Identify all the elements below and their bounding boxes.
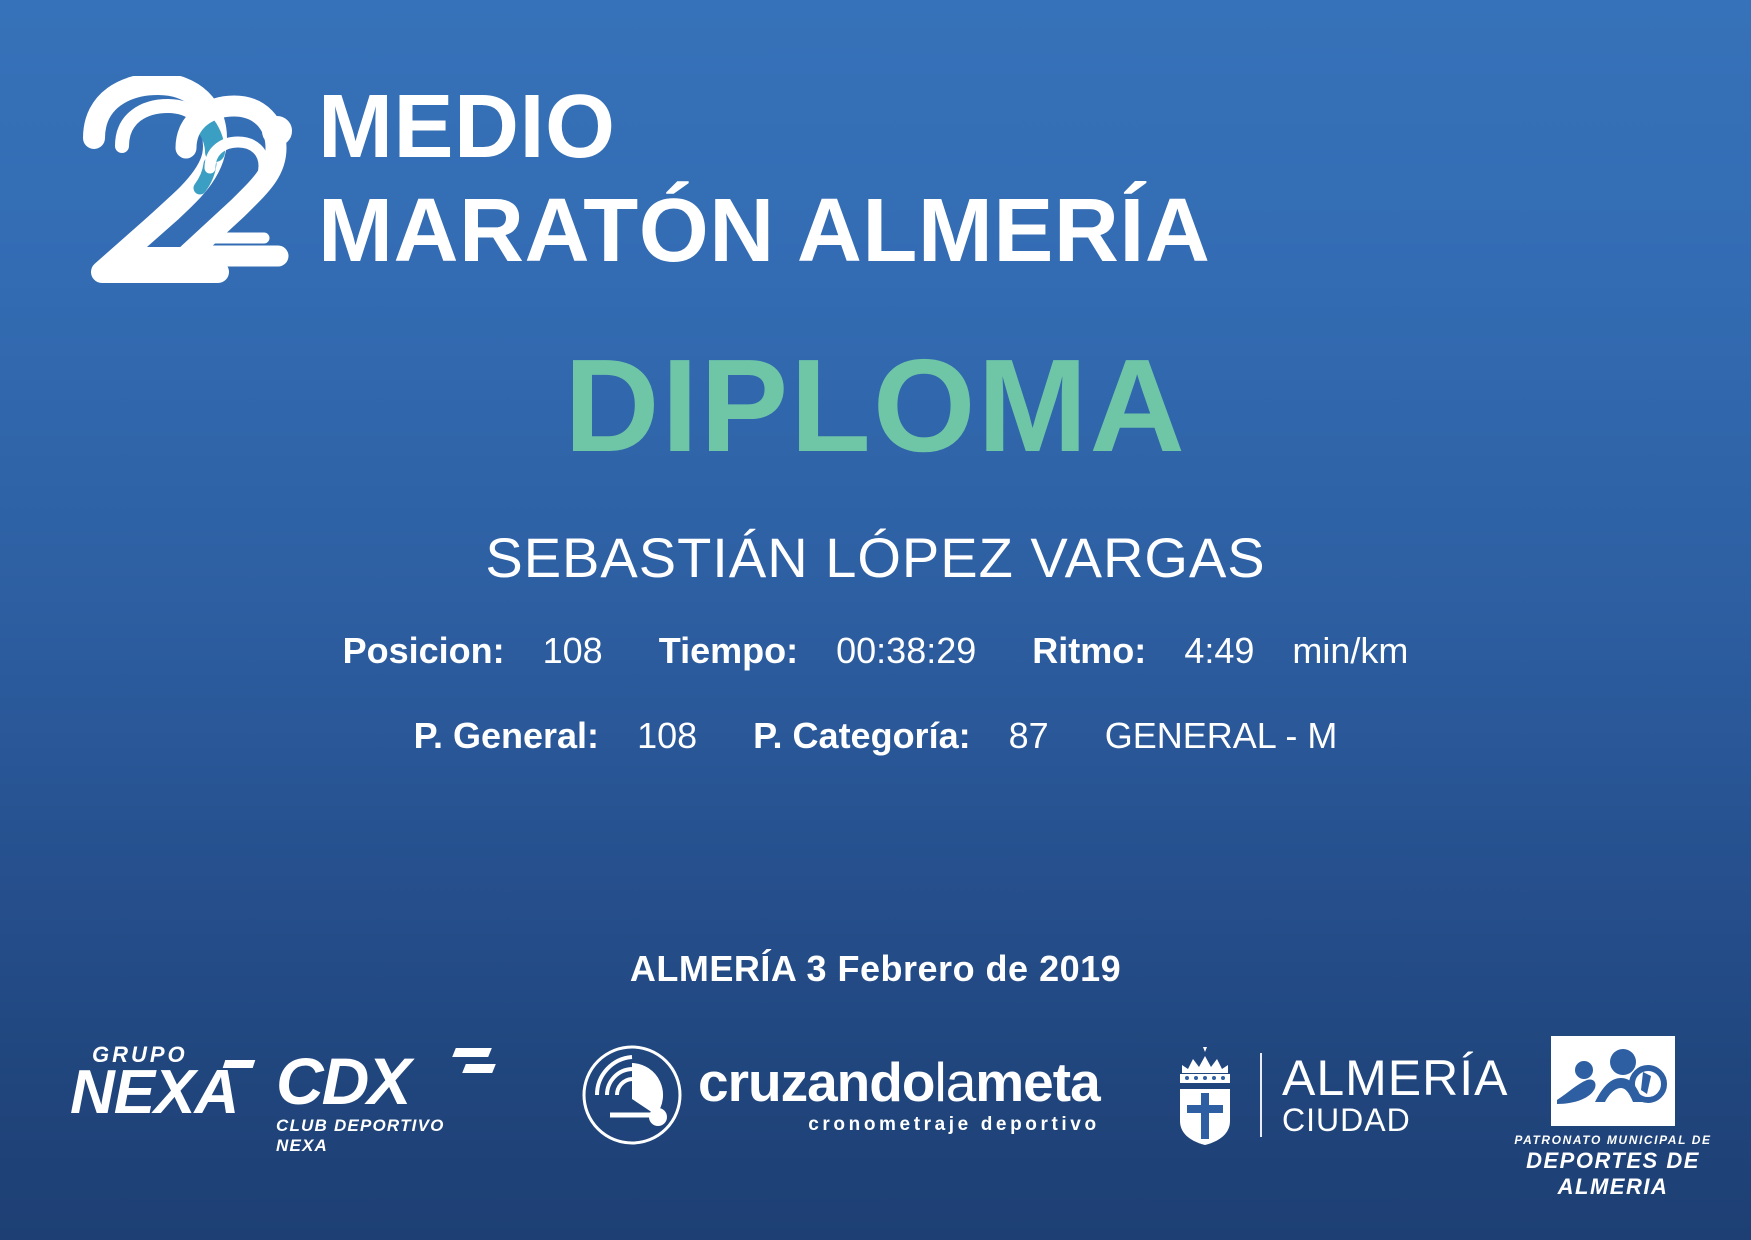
patronato-athletes-graphic: [1551, 1036, 1675, 1126]
patronato-subtitle-2: DEPORTES DE ALMERIA: [1498, 1148, 1728, 1200]
stat-label-p-categoria: P. Categoría:: [753, 715, 970, 756]
almeria-logo-divider: [1260, 1053, 1262, 1137]
grupo-nexa-wordmark: NEXA: [70, 1062, 270, 1124]
almeria-wordmark: ALMERÍA: [1282, 1053, 1509, 1104]
almeria-crest-icon: [1170, 1043, 1240, 1147]
patronato-athletes-icon: [1551, 1036, 1675, 1126]
sponsor-footer: GRUPO NEXA CDX CLUB DEPORTIVO NEXA: [0, 1030, 1751, 1170]
sponsor-logo-almeria-ciudad: ALMERÍA CIUDAD: [1170, 1030, 1470, 1160]
runner-name: SEBASTIÁN LÓPEZ VARGAS: [0, 525, 1751, 590]
cdx-subtitle: CLUB DEPORTIVO NEXA: [276, 1116, 496, 1156]
stat-value-tiempo: 00:38:29: [836, 630, 976, 671]
sponsor-logo-grupo-nexa: GRUPO NEXA: [70, 1030, 270, 1160]
diploma-header: MEDIO MARATÓN ALMERÍA: [0, 64, 1751, 304]
edition-22-logo-graphic: [78, 76, 328, 296]
cdx-accent-dash-icon: [452, 1048, 492, 1057]
stat-label-ritmo: Ritmo:: [1032, 630, 1146, 671]
sponsor-logo-cdx: CDX CLUB DEPORTIVO NEXA: [276, 1030, 496, 1160]
event-title-line-1: MEDIO: [318, 82, 1718, 172]
stat-value-ritmo: 4:49: [1184, 630, 1254, 671]
cdx-accent-dash-2-icon: [462, 1064, 496, 1073]
stat-label-p-general: P. General:: [414, 715, 599, 756]
stats-row-secondary: P. General: 108 P. Categoría: 87 GENERAL…: [0, 715, 1751, 757]
clm-subtitle: cronometraje deportivo: [698, 1114, 1100, 1136]
patronato-subtitle-1: PATRONATO MUNICIPAL DE: [1498, 1133, 1728, 1147]
degree-symbol-icon: [262, 116, 292, 146]
clm-word-meta: meta: [975, 1051, 1099, 1113]
stat-value-p-general: 108: [637, 715, 697, 756]
almeria-subtitle: CIUDAD: [1282, 1104, 1509, 1137]
stat-value-categoria-name: GENERAL - M: [1105, 715, 1338, 756]
cdx-wordmark: CDX: [276, 1048, 496, 1114]
sponsor-logo-patronato-deportes: PATRONATO MUNICIPAL DE DEPORTES DE ALMER…: [1498, 1030, 1728, 1160]
event-title-block: MEDIO MARATÓN ALMERÍA: [318, 82, 1718, 276]
diploma-heading: DIPLOMA: [0, 340, 1751, 472]
stopwatch-arc-icon: [580, 1043, 684, 1147]
sponsor-logo-cruzandolameta: cruzandolameta cronometraje deportivo: [580, 1030, 1050, 1160]
nexa-accent-dash-icon: [223, 1060, 256, 1068]
event-title-line-2: MARATÓN ALMERÍA: [318, 186, 1718, 276]
stat-value-p-categoria: 87: [1009, 715, 1049, 756]
edition-22-logo: [78, 76, 328, 296]
event-date: ALMERÍA 3 Febrero de 2019: [0, 948, 1751, 990]
stats-row-primary: Posicion: 108 Tiempo: 00:38:29 Ritmo: 4:…: [0, 630, 1751, 672]
clm-word-la: la: [934, 1051, 975, 1113]
stat-label-tiempo: Tiempo:: [659, 630, 798, 671]
stat-label-posicion: Posicion:: [343, 630, 505, 671]
clm-word-cruzando: cruzando: [698, 1051, 934, 1113]
diploma-canvas: MEDIO MARATÓN ALMERÍA DIPLOMA SEBASTIÁN …: [0, 0, 1751, 1240]
stat-value-posicion: 108: [543, 630, 603, 671]
stat-unit-ritmo: min/km: [1292, 630, 1408, 671]
